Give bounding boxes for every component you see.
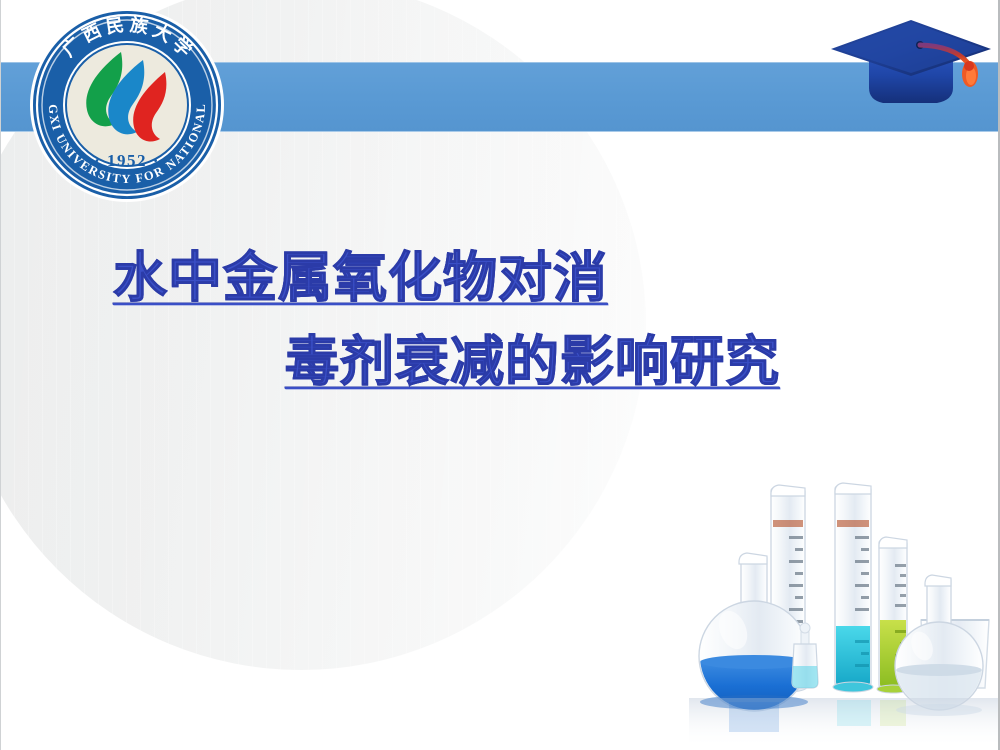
graduation-cap-icon bbox=[825, 4, 997, 126]
title-line-1: 水中金属氧化物对消 bbox=[1, 236, 1000, 320]
title-line-2: 毒剂衰减的影响研究 bbox=[1, 320, 1000, 404]
presentation-slide: · 1952 · 广 西 民 族 大 学 GUANGXI UNIVERSITY … bbox=[0, 0, 1000, 750]
slide-title: 水中金属氧化物对消 毒剂衰减的影响研究 bbox=[1, 236, 1000, 404]
watermark-text bbox=[405, 702, 595, 742]
svg-text:· 1952 ·: · 1952 · bbox=[94, 151, 160, 170]
university-seal-icon: · 1952 · 广 西 民 族 大 学 GUANGXI UNIVERSITY … bbox=[25, 6, 229, 204]
lab-glassware-icon bbox=[689, 470, 999, 748]
graduated-cylinder-tall-right bbox=[833, 483, 873, 692]
table-reflection bbox=[689, 695, 999, 748]
